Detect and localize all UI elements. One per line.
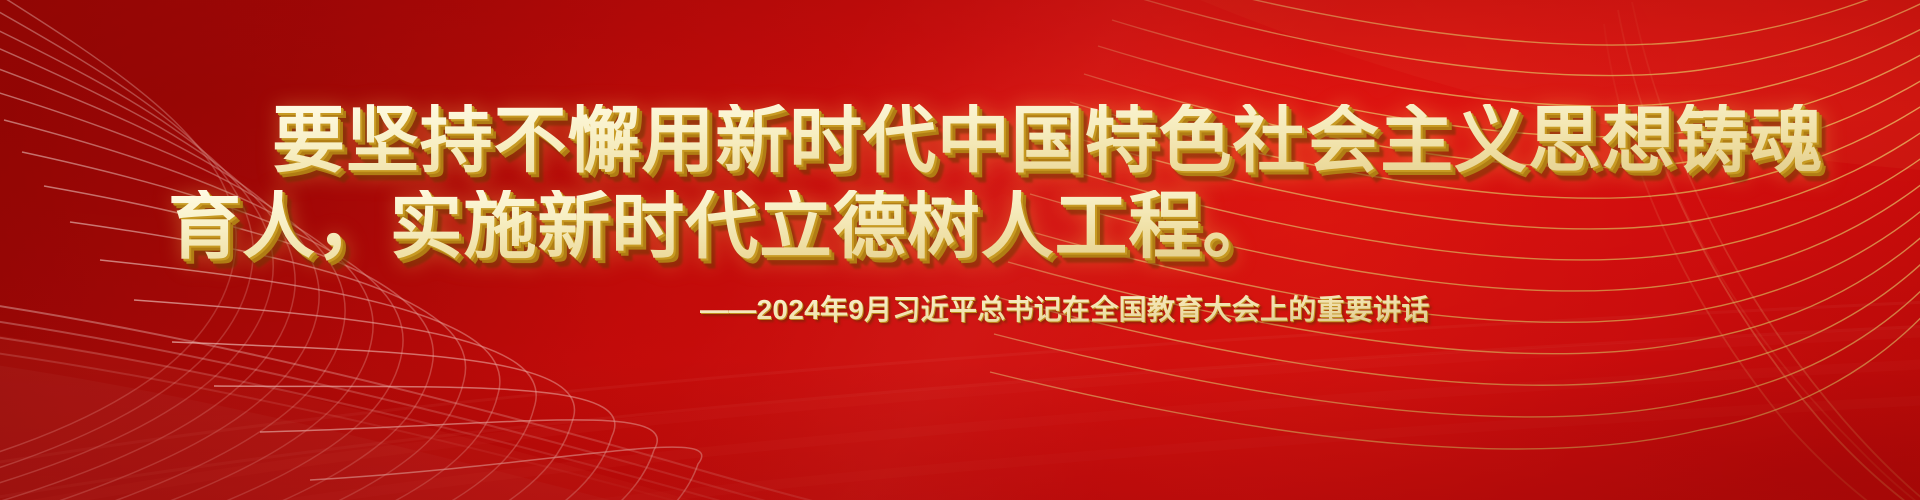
banner-content: 要坚持不懈用新时代中国特色社会主义思想铸魂 育人，实施新时代立德树人工程。 ——…	[0, 0, 1920, 500]
quote-attribution: ——2024年9月习近平总书记在全国教育大会上的重要讲话	[700, 288, 1430, 328]
banner-root: 要坚持不懈用新时代中国特色社会主义思想铸魂 育人，实施新时代立德树人工程。 ——…	[0, 0, 1920, 500]
quote-line-2: 育人，实施新时代立德树人工程。	[168, 190, 1276, 263]
quote-line-1: 要坚持不懈用新时代中国特色社会主义思想铸魂	[272, 104, 1823, 177]
